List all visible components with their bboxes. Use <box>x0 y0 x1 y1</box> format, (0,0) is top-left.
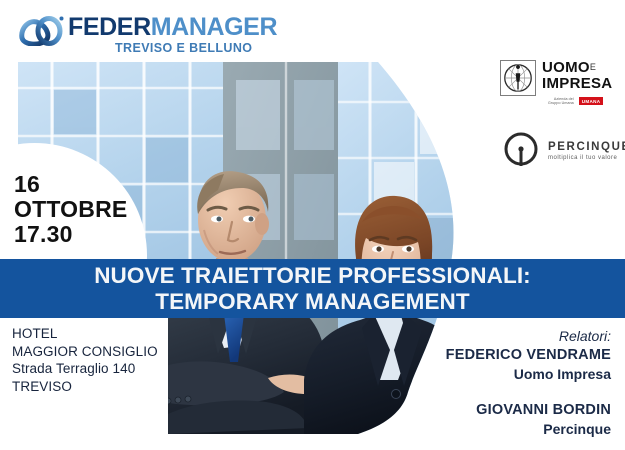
percinque-logo: PERCINQUE moltiplica il tuo valore <box>502 130 622 172</box>
federmanager-eighty-mark-icon <box>18 14 66 46</box>
venue-line-3: Strada Terraglio 140 <box>12 360 158 378</box>
event-title-line-2: TEMPORARY MANAGEMENT <box>155 289 470 315</box>
uomo-impresa-logo: UOMOE IMPRESA Azienda del Gruppo Umana U… <box>500 60 620 108</box>
speaker-1-name: FEDERICO VENDRAME <box>351 346 611 365</box>
federmanager-word-feder: FEDER <box>68 13 151 41</box>
speaker-2-organization: Percinque <box>351 420 611 439</box>
uomo-word: UOMO <box>542 59 590 76</box>
speaker-1-organization: Uomo Impresa <box>351 365 611 384</box>
venue-line-1: HOTEL <box>12 325 158 343</box>
percinque-name: PERCINQUE <box>548 141 625 153</box>
uomo-footnote-line-2: Gruppo Umana <box>548 101 574 105</box>
uomo-impresa-text: UOMOE IMPRESA <box>542 59 612 92</box>
venue-line-2: MAGGIOR CONSIGLIO <box>12 343 158 361</box>
date-badge: 16 OTTOBRE 17.30 <box>14 172 149 247</box>
federmanager-wordmark: FEDERMANAGER <box>68 15 277 40</box>
speaker-2-name: GIOVANNI BORDIN <box>351 401 611 420</box>
event-title-line-1: NUOVE TRAIETTORIE PROFESSIONALI: <box>94 263 531 289</box>
speakers-label: Relatori: <box>351 326 611 346</box>
percinque-tagline: moltiplica il tuo valore <box>548 155 617 161</box>
federmanager-subtitle: TREVISO E BELLUNO <box>115 41 252 55</box>
federmanager-word-manager: MANAGER <box>151 13 277 41</box>
uomo-impresa-footnote: Azienda del Gruppo Umana UMANA <box>548 96 604 106</box>
uomo-impresa-footnote-text: Azienda del Gruppo Umana <box>548 97 574 106</box>
umana-badge: UMANA <box>578 96 605 106</box>
speakers-spacer <box>351 384 611 401</box>
event-poster: FEDERMANAGER TREVISO E BELLUNO UOMOE IMP… <box>0 0 625 450</box>
venue-line-4: TREVISO <box>12 378 158 396</box>
person-in-globe-icon <box>501 61 535 95</box>
date-day: 16 <box>14 172 149 197</box>
date-month: OTTOBRE <box>14 197 149 222</box>
circle-q-icon <box>502 130 540 168</box>
federmanager-logo: FEDERMANAGER TREVISO E BELLUNO <box>18 12 248 58</box>
uomo-impresa-badge <box>500 60 536 96</box>
uomo-connector: E <box>590 62 596 72</box>
date-time: 17.30 <box>14 222 149 247</box>
venue-info: HOTEL MAGGIOR CONSIGLIO Strada Terraglio… <box>12 325 158 395</box>
speakers-block: Relatori: FEDERICO VENDRAME Uomo Impresa… <box>351 326 611 439</box>
uomo-impresa-line-1: UOMOE <box>542 59 612 76</box>
event-title-band: NUOVE TRAIETTORIE PROFESSIONALI: TEMPORA… <box>0 259 625 318</box>
uomo-impresa-line-2: IMPRESA <box>542 76 612 92</box>
